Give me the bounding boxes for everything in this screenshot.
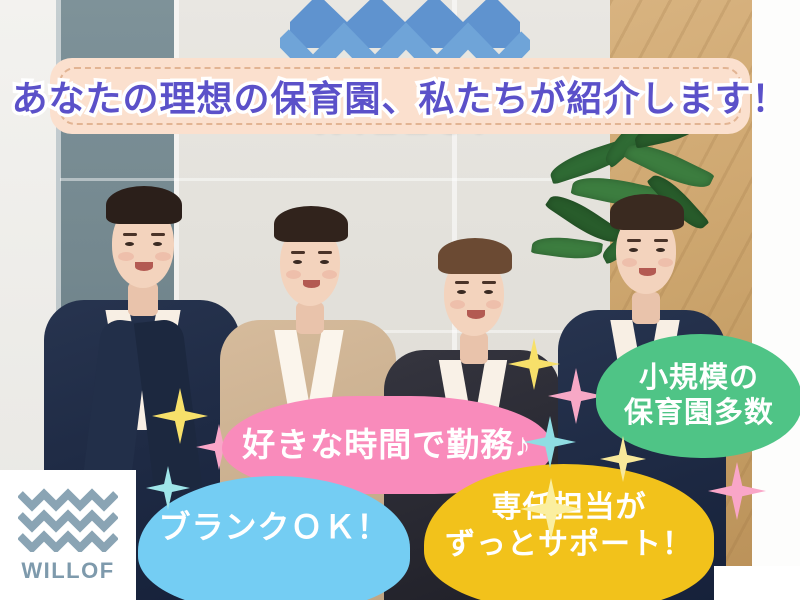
headline-text: あなたの理想の保育園、私たちが紹介します！ xyxy=(12,70,789,122)
willof-corner-logo[interactable]: WILLOF xyxy=(0,470,136,600)
sparkle-yellow-right-icon xyxy=(600,436,646,482)
headline-banner: あなたの理想の保育園、私たちが紹介します！ xyxy=(50,58,750,134)
advertisement-banner: WILLOF xyxy=(0,0,800,600)
sparkle-cyan-mid-icon xyxy=(524,416,576,468)
bottom-right-white-strip xyxy=(714,566,800,600)
sparkle-pink-right-icon xyxy=(708,462,766,520)
sparkle-cyan-bottom-icon xyxy=(146,466,190,510)
sparkle-yellow-pale-icon xyxy=(520,478,582,540)
corner-logo-wordmark: WILLOF xyxy=(21,558,114,584)
willof-zigzag-icon xyxy=(18,486,118,552)
